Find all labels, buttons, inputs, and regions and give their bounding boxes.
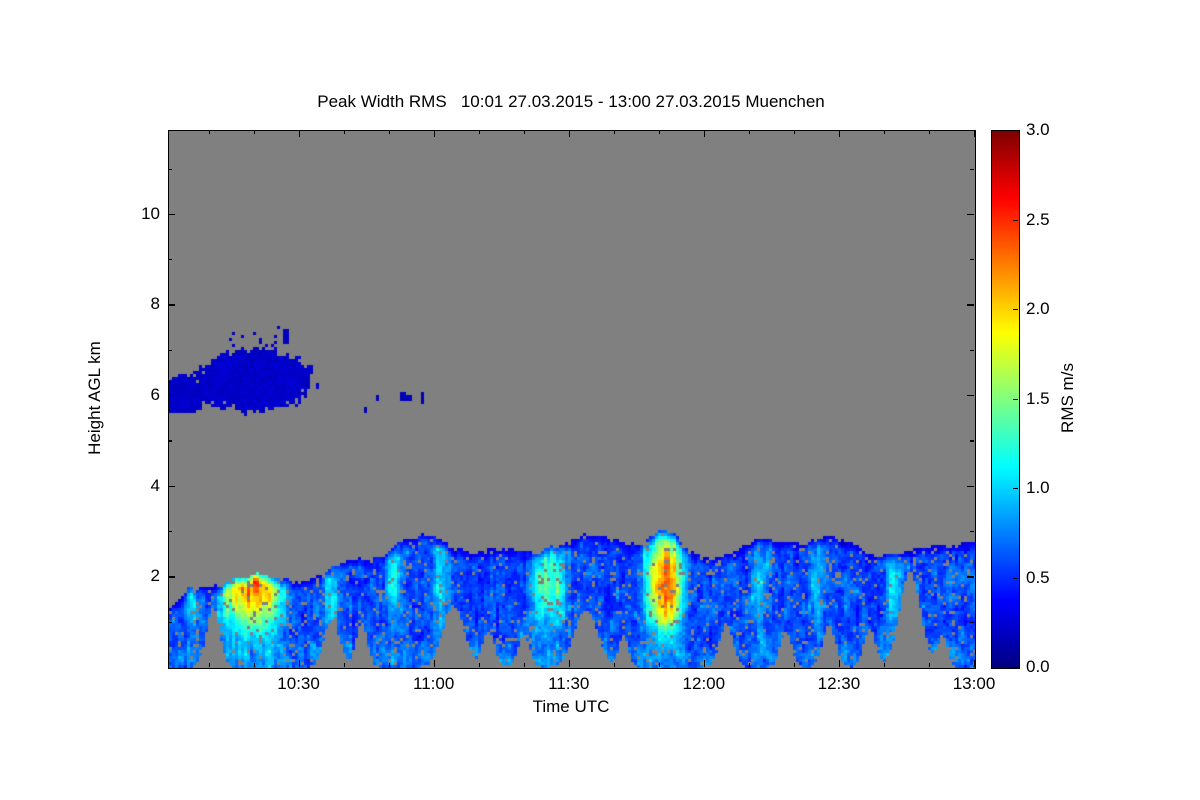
x-tick-label: 11:30 xyxy=(548,674,589,694)
colorbar-tick-label: 2.5 xyxy=(1026,210,1050,230)
x-tick-mark xyxy=(794,130,795,134)
y-tick-label: 8 xyxy=(122,294,160,314)
y-tick-mark xyxy=(970,350,974,351)
x-tick-mark xyxy=(839,130,840,137)
colorbar-tick-label: 1.5 xyxy=(1026,389,1050,409)
x-tick-mark xyxy=(929,663,930,667)
colorbar-label: RMS m/s xyxy=(1058,363,1078,433)
y-tick-mark xyxy=(168,440,172,441)
y-tick-mark xyxy=(168,214,175,215)
x-tick-mark xyxy=(974,660,975,667)
colorbar-tick-label: 3.0 xyxy=(1026,120,1050,140)
x-tick-mark xyxy=(299,130,300,137)
y-tick-mark xyxy=(967,304,974,305)
x-tick-mark xyxy=(884,130,885,134)
y-tick-mark xyxy=(970,259,974,260)
x-tick-mark xyxy=(659,663,660,667)
y-axis-label: Height AGL km xyxy=(85,341,105,455)
y-tick-mark xyxy=(168,304,175,305)
y-tick-mark xyxy=(168,395,175,396)
x-tick-mark xyxy=(884,663,885,667)
x-tick-mark xyxy=(344,130,345,134)
x-tick-mark xyxy=(839,660,840,667)
x-tick-mark xyxy=(749,663,750,667)
colorbar-tick-mark xyxy=(1013,399,1018,400)
y-tick-mark xyxy=(967,214,974,215)
colorbar-tick-label: 0.0 xyxy=(1026,657,1050,677)
x-tick-label: 13:00 xyxy=(953,674,996,694)
x-tick-mark xyxy=(614,130,615,134)
x-tick-mark xyxy=(614,663,615,667)
x-tick-mark xyxy=(704,660,705,667)
x-tick-mark xyxy=(389,130,390,134)
x-tick-label: 12:30 xyxy=(818,674,861,694)
y-tick-mark xyxy=(168,486,175,487)
x-tick-mark xyxy=(434,660,435,667)
y-tick-mark xyxy=(967,576,974,577)
x-tick-mark xyxy=(344,663,345,667)
x-tick-mark xyxy=(929,130,930,134)
page-title: Peak Width RMS 10:01 27.03.2015 - 13:00 … xyxy=(168,92,974,112)
x-tick-mark xyxy=(479,130,480,134)
x-tick-mark xyxy=(794,663,795,667)
x-tick-mark xyxy=(209,663,210,667)
x-tick-mark xyxy=(479,663,480,667)
x-tick-mark xyxy=(659,130,660,134)
x-tick-mark xyxy=(569,660,570,667)
y-tick-label: 6 xyxy=(122,385,160,405)
colorbar-tick-mark xyxy=(1013,578,1018,579)
y-tick-label: 2 xyxy=(122,566,160,586)
figure-canvas: Peak Width RMS 10:01 27.03.2015 - 13:00 … xyxy=(0,0,1200,800)
colorbar-tick-mark xyxy=(1013,130,1018,131)
x-tick-mark xyxy=(749,130,750,134)
y-tick-mark xyxy=(970,440,974,441)
y-tick-mark xyxy=(168,169,172,170)
colorbar-tick-mark xyxy=(1013,309,1018,310)
x-tick-mark xyxy=(974,130,975,137)
x-tick-mark xyxy=(569,130,570,137)
colorbar-tick-label: 1.0 xyxy=(1026,478,1050,498)
x-tick-label: 10:30 xyxy=(277,674,320,694)
colorbar-tick-label: 2.0 xyxy=(1026,299,1050,319)
y-tick-mark xyxy=(168,259,172,260)
x-tick-mark xyxy=(434,130,435,137)
x-axis-label: Time UTC xyxy=(168,697,974,717)
x-tick-mark xyxy=(524,130,525,134)
x-tick-mark xyxy=(389,663,390,667)
y-tick-mark xyxy=(168,622,172,623)
colorbar-tick-mark xyxy=(1013,667,1018,668)
x-tick-mark xyxy=(254,130,255,134)
x-tick-mark xyxy=(254,663,255,667)
y-tick-mark xyxy=(168,531,172,532)
colorbar-tick-mark xyxy=(1013,488,1018,489)
x-tick-mark xyxy=(704,130,705,137)
y-tick-mark xyxy=(168,350,172,351)
colorbar-tick-mark xyxy=(1013,220,1018,221)
y-tick-mark xyxy=(970,622,974,623)
x-tick-mark xyxy=(299,660,300,667)
x-tick-label: 12:00 xyxy=(683,674,726,694)
x-tick-mark xyxy=(524,663,525,667)
heatmap-image xyxy=(169,131,975,668)
x-tick-label: 11:00 xyxy=(413,674,454,694)
y-tick-mark xyxy=(970,531,974,532)
heatmap-plot-area xyxy=(168,130,976,669)
y-tick-mark xyxy=(970,169,974,170)
x-tick-mark xyxy=(209,130,210,134)
y-tick-mark xyxy=(168,576,175,577)
y-tick-mark xyxy=(967,395,974,396)
y-tick-label: 4 xyxy=(122,476,160,496)
y-tick-label: 10 xyxy=(122,204,160,224)
colorbar-tick-label: 0.5 xyxy=(1026,568,1050,588)
y-tick-mark xyxy=(967,486,974,487)
